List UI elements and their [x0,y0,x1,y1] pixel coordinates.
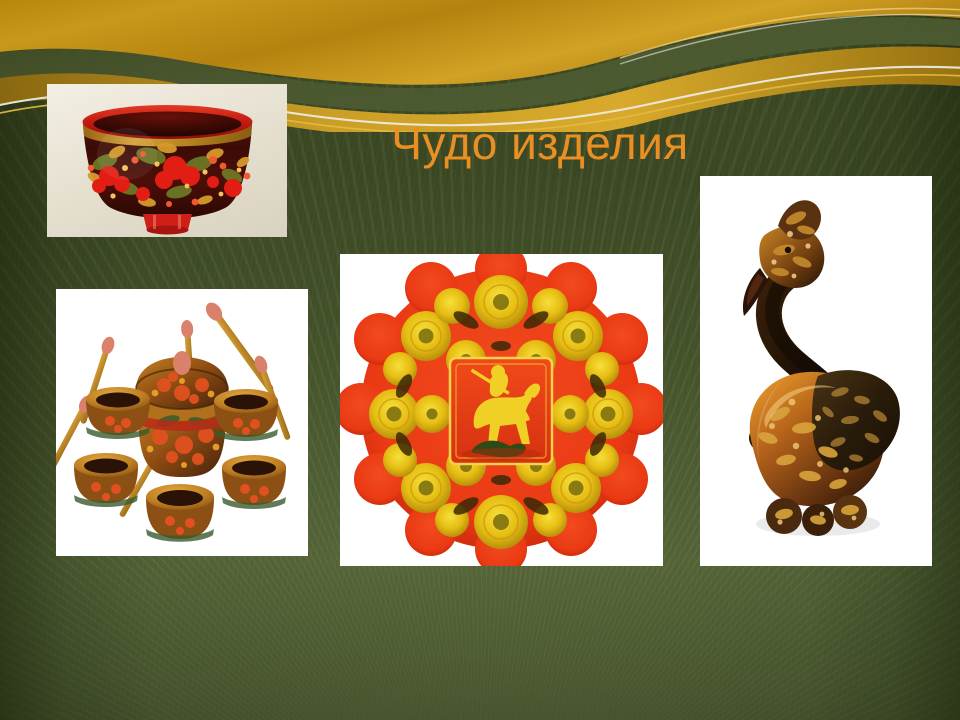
moscow-coat-of-arms [450,358,552,464]
swan-eye [785,247,791,253]
bowl-foot-base [147,226,189,235]
khokhloma-tea-set-photo[interactable] [56,289,308,556]
carved-swan-figurine-photo[interactable] [700,176,932,566]
plate-artwork [340,254,663,566]
khokhloma-bowl-photo[interactable] [47,84,287,237]
tea-set-artwork [56,289,308,556]
lidded-pot [136,351,228,477]
bowl-artwork [47,84,287,237]
pot-knob [173,351,191,375]
decorative-plate-photo[interactable] [340,254,663,566]
page-title: Чудо изделия [300,118,780,169]
slide-canvas: Чудо изделия [0,0,960,720]
swan-artwork [700,176,932,566]
